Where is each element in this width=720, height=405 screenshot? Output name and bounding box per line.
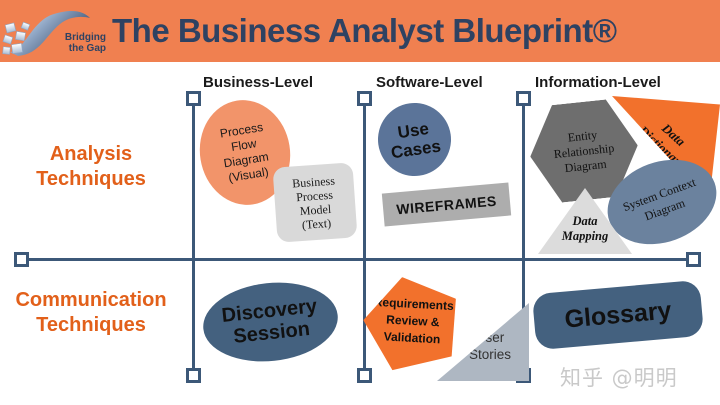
shape-glossary[interactable]: Glossary [532,280,704,350]
grid-marker-left [14,252,29,267]
shape-requirements-review-validation[interactable]: Requirements Review & Validation [356,266,469,377]
grid-marker-right [686,252,701,267]
shape-requirements-review-validation-label: Requirements Review & Validation [368,294,459,350]
page-title: The Business Analyst Blueprint® [112,12,617,50]
row-label-communication-line1: Communication [0,288,184,313]
shape-discovery-session[interactable]: Discovery Session [199,276,341,368]
grid-marker-top-1 [186,91,201,106]
column-header-business-level: Business-Level [203,74,313,91]
shape-wireframes-label: WIREFRAMES [396,192,498,217]
logo-tagline-line2: the Gap [65,43,106,54]
row-label-communication-line2: Techniques [0,313,184,338]
grid-marker-top-2 [357,91,372,106]
header-banner: Bridging the Gap The Business Analyst Bl… [0,0,720,62]
column-header-software-level: Software-Level [376,74,483,91]
logo-tagline-line1: Bridging [65,32,106,43]
column-header-information-level: Information-Level [535,74,661,91]
shape-business-process-model[interactable]: Business Process Model (Text) [272,162,357,242]
shape-entity-relationship-diagram-label: Entity Relationship Diagram [551,125,616,176]
row-label-analysis-line1: Analysis [0,142,184,167]
shape-business-process-model-label: Business Process Model (Text) [292,173,338,232]
grid-vertical-divider-1 [192,98,195,370]
row-label-analysis-techniques: Analysis Techniques [0,142,184,192]
watermark: 知乎 @明明 [560,362,678,392]
row-label-analysis-line2: Techniques [0,167,184,192]
grid-marker-bottom-1 [186,368,201,383]
grid-marker-bottom-2 [357,368,372,383]
shape-discovery-session-label: Discovery Session [221,295,321,349]
shape-user-stories-label: User Stories [451,329,529,363]
logo-tagline: Bridging the Gap [65,32,106,54]
grid-horizontal-divider [14,258,700,261]
shape-wireframes[interactable]: WIREFRAMES [382,183,511,227]
shape-glossary-label: Glossary [563,296,672,334]
row-label-communication-techniques: Communication Techniques [0,288,184,338]
grid-marker-top-3 [516,91,531,106]
shape-process-flow-diagram-label: Process Flow Diagram (Visual) [218,119,272,185]
grid-vertical-divider-2 [363,98,366,370]
blueprint-infographic: Bridging the Gap The Business Analyst Bl… [0,0,720,405]
shape-use-cases-label: Use Cases [387,117,442,162]
shape-system-context-diagram-label: System Context Diagram [621,174,704,230]
bridging-the-gap-logo: Bridging the Gap [2,2,110,60]
shape-use-cases[interactable]: Use Cases [373,98,455,180]
